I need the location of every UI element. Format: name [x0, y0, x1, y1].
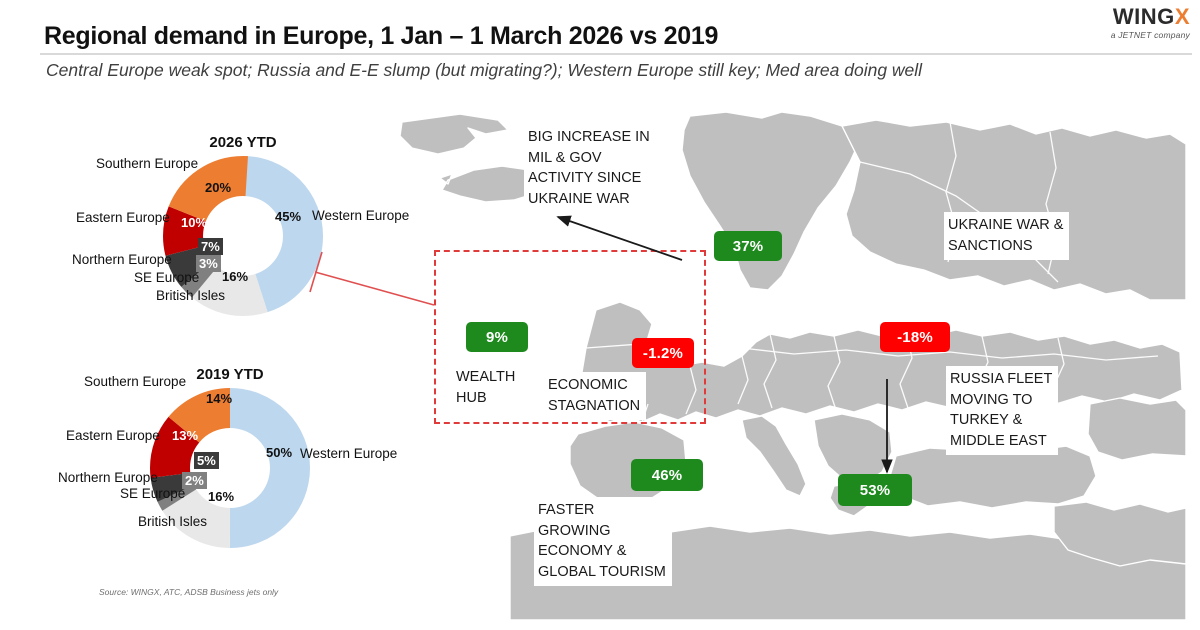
donut-2019-pct-western: 50%	[266, 446, 292, 459]
map-badge-nordics: 37%	[714, 231, 782, 261]
donut-2019-pct-northern: 5%	[194, 452, 219, 469]
map-badge-western-med: 46%	[631, 459, 703, 491]
logo-wordmark-accent: X	[1175, 4, 1190, 29]
donut-2019-pct-southern: 14%	[206, 392, 232, 405]
map-note-ukraine-war: UKRAINE WAR & SANCTIONS	[944, 212, 1069, 260]
donut-2019-label-british: British Isles	[138, 514, 207, 529]
logo-wordmark: WINGX	[1111, 6, 1190, 28]
map-note-faster-growing: FASTER GROWING ECONOMY & GLOBAL TOURISM	[534, 497, 672, 586]
source-note: Source: WINGX, ATC, ADSB Business jets o…	[99, 586, 278, 598]
logo-wordmark-base: WING	[1113, 4, 1175, 29]
donut-2019-pct-eastern: 13%	[172, 429, 198, 442]
donut-2019-label-eastern: Eastern Europe	[66, 428, 160, 443]
donut-2019-pct-british: 16%	[208, 490, 234, 503]
slide-canvas: Regional demand in Europe, 1 Jan – 1 Mar…	[0, 0, 1200, 630]
donut-2019-label-se: SE Europe	[120, 486, 185, 501]
map-note-russia-fleet: RUSSIA FLEET MOVING TO TURKEY & MIDDLE E…	[946, 366, 1058, 455]
map-note-wealth-hub: WEALTH HUB	[452, 364, 521, 412]
landmass-greenland	[400, 114, 508, 154]
donut-chart-2019: 2019 YTD Southern Europe Eastern Europe …	[0, 0, 430, 560]
map-badge-turkey: 53%	[838, 474, 912, 506]
logo-tagline: a JETNET company	[1111, 31, 1190, 40]
landmass-northwest-russia	[842, 120, 1186, 300]
landmass-italy	[742, 416, 806, 496]
map-badge-russia: -18%	[880, 322, 950, 352]
donut-2019-label-southern: Southern Europe	[84, 374, 186, 389]
map-badge-central-europe: -1.2%	[632, 338, 694, 368]
landmass-caucasus	[1088, 398, 1186, 460]
donut-2019-label-western: Western Europe	[300, 446, 397, 461]
wingx-logo: WINGX a JETNET company	[1111, 6, 1190, 40]
donut-2019-label-northern: Northern Europe	[58, 470, 158, 485]
map-note-economic-stagnation: ECONOMIC STAGNATION	[544, 372, 646, 420]
landmass-scandinavia	[682, 112, 860, 290]
map-badge-british-isles: 9%	[466, 322, 528, 352]
donut-2019-pct-se: 2%	[182, 472, 207, 489]
europe-map: BIG INCREASE IN MIL & GOV ACTIVITY SINCE…	[390, 104, 1190, 624]
map-note-mil-gov: BIG INCREASE IN MIL & GOV ACTIVITY SINCE…	[524, 124, 656, 213]
